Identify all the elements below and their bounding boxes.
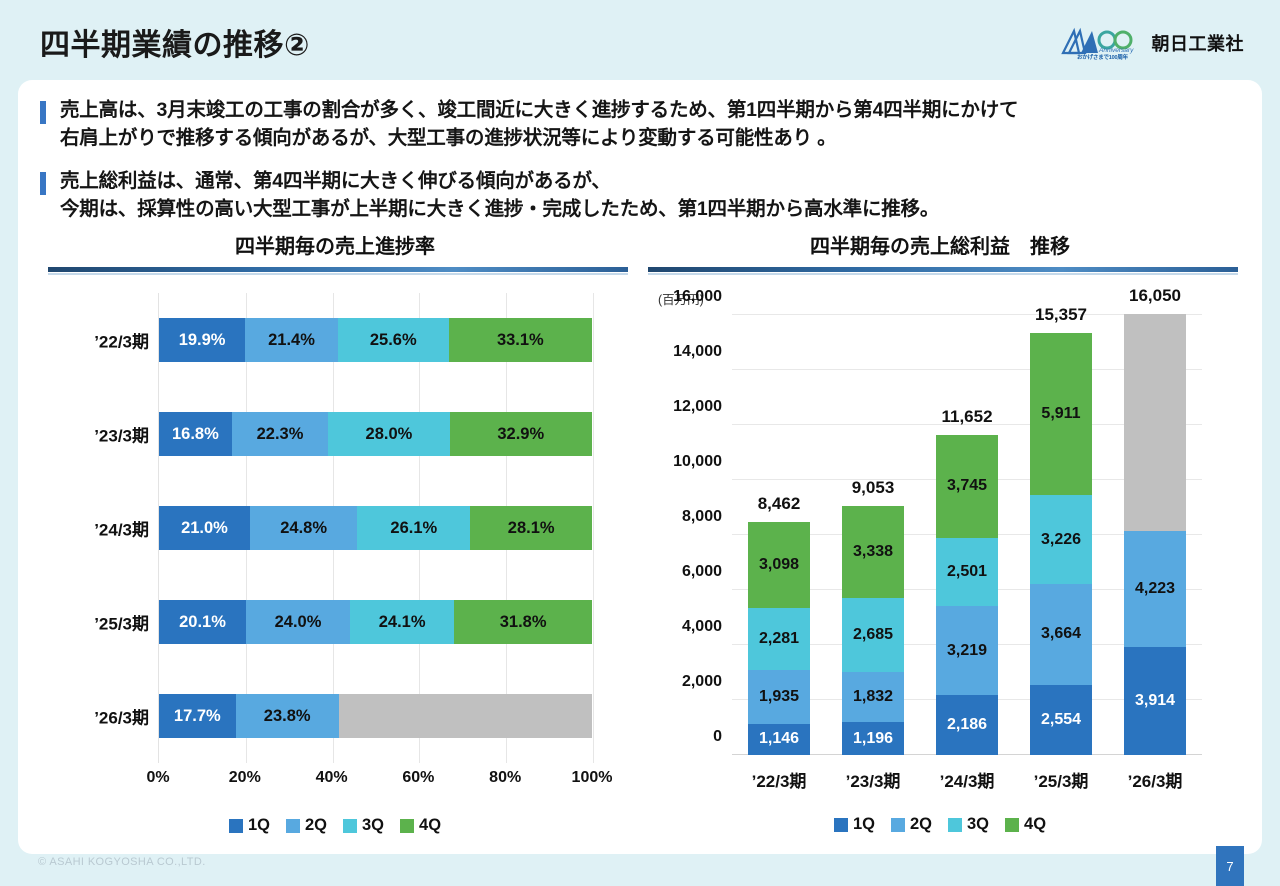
bar-row: ’26/3期17.7%23.8% bbox=[159, 694, 592, 738]
bullet-text: 売上総利益は、通常、第4四半期に大きく伸びる傾向があるが、今期は、採算性の高い大… bbox=[60, 167, 939, 224]
bar-segment-2q: 23.8% bbox=[236, 694, 339, 738]
bar-row: ’23/3期16.8%22.3%28.0%32.9% bbox=[159, 412, 592, 456]
logo-tagline: おかげさまで100周年 bbox=[1063, 53, 1143, 61]
legend-item-1q[interactable]: 1Q bbox=[834, 815, 875, 834]
x-axis-tick: 100% bbox=[572, 769, 613, 787]
category-label: ’22/3期 bbox=[94, 328, 149, 353]
bullet-marker-icon bbox=[40, 101, 46, 124]
category-label: ’22/3期 bbox=[752, 767, 807, 792]
legend-swatch-icon bbox=[891, 818, 905, 832]
bar-segment-1q: 3,914 bbox=[1124, 647, 1186, 755]
bar-segment-3q: 28.0% bbox=[328, 412, 449, 456]
chart-right-plot-wrapper: (百万円) 02,0004,0006,0008,00010,00012,0001… bbox=[640, 289, 1240, 789]
legend-swatch-icon bbox=[343, 819, 357, 833]
y-axis-tick: 6,000 bbox=[682, 563, 722, 581]
chart-gross-profit-trend: 四半期毎の売上総利益 推移 (百万円) 02,0004,0006,0008,00… bbox=[640, 230, 1240, 789]
bar-segment-4q: 3,338 bbox=[842, 506, 904, 598]
chart-left-legend: 1Q2Q3Q4Q bbox=[40, 816, 630, 835]
bar-segment-1q: 17.7% bbox=[159, 694, 236, 738]
bullet-item: 売上総利益は、通常、第4四半期に大きく伸びる傾向があるが、今期は、採算性の高い大… bbox=[40, 167, 1220, 224]
y-axis-tick: 8,000 bbox=[682, 508, 722, 526]
bar-segment-4q: 31.8% bbox=[454, 600, 592, 644]
slide-root: 四半期業績の推移② Anniversary おかげさまで100周年 朝日工業社 … bbox=[0, 0, 1280, 886]
bar-segment-1q: 21.0% bbox=[159, 506, 250, 550]
bar-segment-4q: 28.1% bbox=[470, 506, 592, 550]
legend-swatch-icon bbox=[400, 819, 414, 833]
chart-left-x-axis: 0%20%40%60%80%100% bbox=[158, 763, 592, 793]
bar-segment-3q: 3,226 bbox=[1030, 495, 1092, 584]
bar-total-label: 16,050 bbox=[1129, 286, 1181, 306]
chart-sales-progress-rate: 四半期毎の売上進捗率 ’22/3期19.9%21.4%25.6%33.1%’23… bbox=[40, 230, 630, 793]
bar-segment-4q: 3,098 bbox=[748, 522, 810, 607]
bar-segment-4q: 5,911 bbox=[1030, 333, 1092, 496]
copyright-text: © ASAHI KOGYOSHA CO.,LTD. bbox=[38, 856, 206, 868]
legend-label: 3Q bbox=[362, 816, 384, 835]
category-label: ’24/3期 bbox=[940, 767, 995, 792]
bar-segment-4q: 33.1% bbox=[449, 318, 592, 362]
legend-label: 1Q bbox=[853, 815, 875, 834]
legend-label: 2Q bbox=[910, 815, 932, 834]
slide-header: 四半期業績の推移② Anniversary おかげさまで100周年 朝日工業社 bbox=[0, 0, 1280, 78]
bar-segment-2q: 3,664 bbox=[1030, 584, 1092, 685]
legend-swatch-icon bbox=[834, 818, 848, 832]
bar-segment-3q: 2,685 bbox=[842, 598, 904, 672]
bar-column: 3,7452,5013,2192,18611,652’24/3期 bbox=[936, 435, 998, 755]
bar-column: 3,0982,2811,9351,1468,462’22/3期 bbox=[748, 522, 810, 755]
bar-segment-2q: 24.8% bbox=[250, 506, 357, 550]
legend-label: 3Q bbox=[967, 815, 989, 834]
category-label: ’24/3期 bbox=[94, 516, 149, 541]
legend-item-4q[interactable]: 4Q bbox=[400, 816, 441, 835]
legend-label: 2Q bbox=[305, 816, 327, 835]
x-axis-tick: 80% bbox=[489, 769, 521, 787]
legend-label: 4Q bbox=[1024, 815, 1046, 834]
x-axis-tick: 0% bbox=[146, 769, 169, 787]
legend-label: 1Q bbox=[248, 816, 270, 835]
bar-segment-1q: 1,146 bbox=[748, 724, 810, 756]
bar-segment-1q: 1,196 bbox=[842, 722, 904, 755]
y-axis-tick: 10,000 bbox=[673, 453, 722, 471]
bar-segment-2q: 3,219 bbox=[936, 606, 998, 695]
bar-column: 3,3382,6851,8321,1969,053’23/3期 bbox=[842, 506, 904, 755]
bar-row: ’22/3期19.9%21.4%25.6%33.1% bbox=[159, 318, 592, 362]
content-panel: 売上高は、3月末竣工の工事の割合が多く、竣工間近に大きく進捗するため、第1四半期… bbox=[18, 80, 1262, 854]
bar-column: 5,9113,2263,6642,55415,357’25/3期 bbox=[1030, 333, 1092, 755]
legend-swatch-icon bbox=[286, 819, 300, 833]
bar-segment-2q: 24.0% bbox=[246, 600, 350, 644]
chart-right-plot-area: 02,0004,0006,0008,00010,00012,00014,0001… bbox=[732, 315, 1202, 755]
bar-total-label: 9,053 bbox=[852, 478, 895, 498]
legend-item-3q[interactable]: 3Q bbox=[948, 815, 989, 834]
bullet-marker-icon bbox=[40, 172, 46, 195]
y-axis-tick: 12,000 bbox=[673, 398, 722, 416]
y-axis-tick: 4,000 bbox=[682, 618, 722, 636]
bar-column: 4,2233,91416,050’26/3期 bbox=[1124, 314, 1186, 755]
category-label: ’25/3期 bbox=[1034, 767, 1089, 792]
chart-right-title-rule bbox=[640, 267, 1240, 273]
legend-swatch-icon bbox=[1005, 818, 1019, 832]
page-number-badge: 7 bbox=[1216, 846, 1244, 886]
bullet-list: 売上高は、3月末竣工の工事の割合が多く、竣工間近に大きく進捗するため、第1四半期… bbox=[40, 96, 1220, 237]
x-axis-tick: 20% bbox=[229, 769, 261, 787]
bar-segment-4q: 32.9% bbox=[450, 412, 592, 456]
bar-segment-1q: 2,186 bbox=[936, 695, 998, 755]
bullet-item: 売上高は、3月末竣工の工事の割合が多く、竣工間近に大きく進捗するため、第1四半期… bbox=[40, 96, 1220, 153]
chart-right-title: 四半期毎の売上総利益 推移 bbox=[640, 230, 1240, 259]
bar-segment-未定 bbox=[339, 694, 592, 738]
y-axis-tick: 14,000 bbox=[673, 343, 722, 361]
bar-segment-2q: 21.4% bbox=[245, 318, 338, 362]
legend-label: 4Q bbox=[419, 816, 441, 835]
bar-segment-2q: 22.3% bbox=[232, 412, 329, 456]
bar-total-label: 11,652 bbox=[941, 407, 992, 427]
x-axis-tick: 60% bbox=[402, 769, 434, 787]
legend-item-2q[interactable]: 2Q bbox=[891, 815, 932, 834]
y-axis-tick: 16,000 bbox=[673, 288, 722, 306]
bar-segment-2q: 1,832 bbox=[842, 672, 904, 722]
category-label: ’23/3期 bbox=[94, 422, 149, 447]
legend-item-2q[interactable]: 2Q bbox=[286, 816, 327, 835]
legend-item-3q[interactable]: 3Q bbox=[343, 816, 384, 835]
chart-left-plot-area: ’22/3期19.9%21.4%25.6%33.1%’23/3期16.8%22.… bbox=[158, 293, 592, 763]
chart-right-legend: 1Q2Q3Q4Q bbox=[640, 815, 1240, 834]
bar-row: ’24/3期21.0%24.8%26.1%28.1% bbox=[159, 506, 592, 550]
bar-segment-1q: 16.8% bbox=[159, 412, 232, 456]
category-label: ’25/3期 bbox=[94, 610, 149, 635]
brand-logo: Anniversary おかげさまで100周年 朝日工業社 bbox=[1059, 26, 1245, 60]
legend-item-1q[interactable]: 1Q bbox=[229, 816, 270, 835]
bar-total-label: 8,462 bbox=[758, 494, 801, 514]
bar-segment-3q: 25.6% bbox=[338, 318, 449, 362]
legend-swatch-icon bbox=[229, 819, 243, 833]
bar-total-label: 15,357 bbox=[1035, 305, 1087, 325]
y-axis-tick: 2,000 bbox=[682, 673, 722, 691]
category-label: ’26/3期 bbox=[94, 704, 149, 729]
bar-segment-1q: 20.1% bbox=[159, 600, 246, 644]
chart-left-title: 四半期毎の売上進捗率 bbox=[40, 230, 630, 259]
category-label: ’23/3期 bbox=[846, 767, 901, 792]
bar-segment-1q: 19.9% bbox=[159, 318, 245, 362]
legend-item-4q[interactable]: 4Q bbox=[1005, 815, 1046, 834]
legend-swatch-icon bbox=[948, 818, 962, 832]
bar-segment-4q: 3,745 bbox=[936, 435, 998, 538]
bar-segment-3q: 26.1% bbox=[357, 506, 470, 550]
x-axis-tick: 40% bbox=[316, 769, 348, 787]
bar-segment-3q: 24.1% bbox=[350, 600, 454, 644]
page-title: 四半期業績の推移② bbox=[40, 20, 310, 64]
category-label: ’26/3期 bbox=[1128, 767, 1183, 792]
anniversary-logo-icon: Anniversary おかげさまで100周年 bbox=[1059, 26, 1143, 60]
bar-segment-3q: 2,501 bbox=[936, 538, 998, 607]
bar-segment-1q: 2,554 bbox=[1030, 685, 1092, 755]
bar-row: ’25/3期20.1%24.0%24.1%31.8% bbox=[159, 600, 592, 644]
bar-segment-3q: 2,281 bbox=[748, 608, 810, 671]
bullet-text: 売上高は、3月末竣工の工事の割合が多く、竣工間近に大きく進捗するため、第1四半期… bbox=[60, 96, 1018, 153]
y-axis-tick: 0 bbox=[713, 728, 722, 746]
company-name: 朝日工業社 bbox=[1152, 30, 1245, 56]
bar-segment-2q: 1,935 bbox=[748, 670, 810, 723]
bar-segment-計画 bbox=[1124, 314, 1186, 532]
gridline bbox=[593, 293, 594, 763]
bar-segment-2q: 4,223 bbox=[1124, 531, 1186, 647]
chart-left-title-rule bbox=[40, 267, 630, 273]
